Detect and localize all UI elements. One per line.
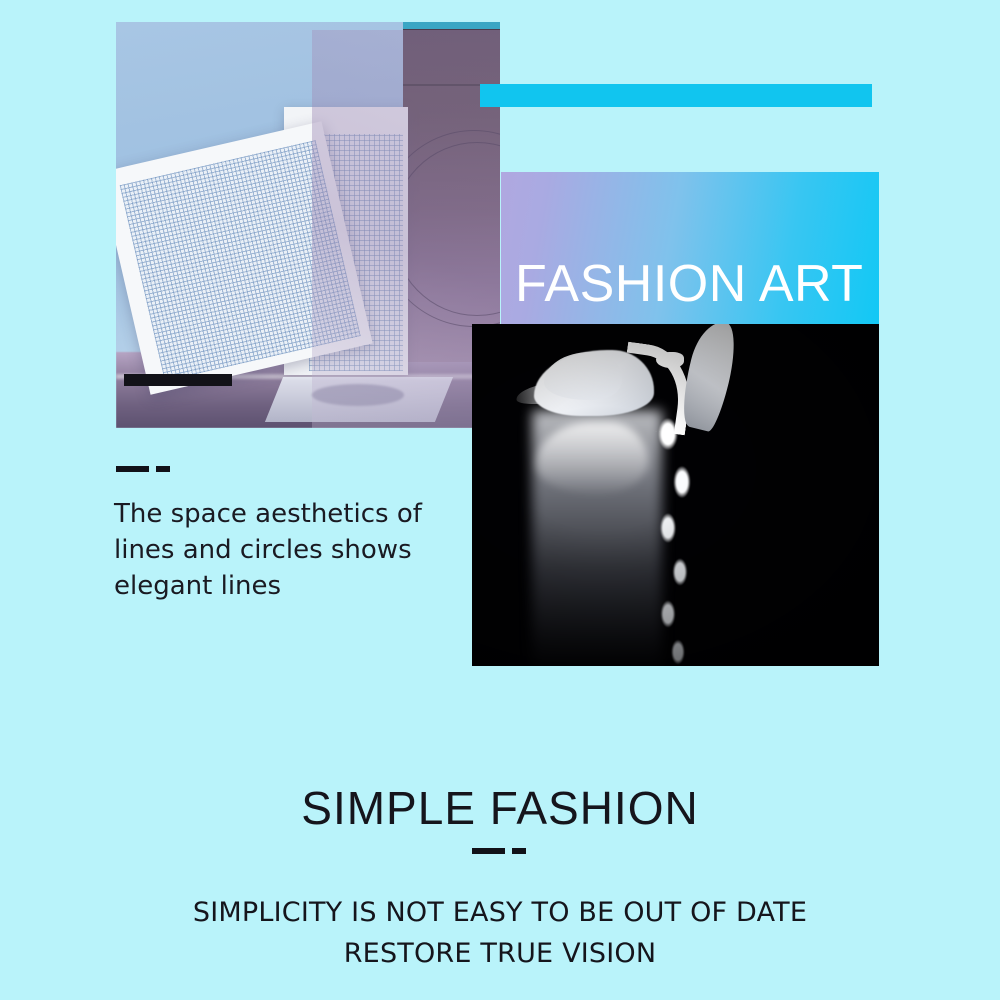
dash-long-icon <box>472 848 505 854</box>
bottom-subtitle-line-1: SIMPLICITY IS NOT EASY TO BE OUT OF DATE <box>0 892 1000 933</box>
swan-vignette <box>472 324 879 666</box>
mauve-panel-top-trim <box>403 22 500 29</box>
fashion-art-title: FASHION ART <box>515 258 863 310</box>
panel-foot-shadow <box>124 374 232 386</box>
bottom-heading: SIMPLE FASHION <box>0 782 1000 834</box>
fashion-art-title-panel: FASHION ART <box>501 172 879 324</box>
bottom-text-block: SIMPLE FASHION SIMPLICITY IS NOT EASY TO… <box>0 782 1000 974</box>
left-dash-divider <box>116 466 170 472</box>
cyan-accent-bar <box>480 84 872 107</box>
left-product-photo <box>116 22 500 428</box>
left-body-copy: The space aesthetics of lines and circle… <box>114 496 464 604</box>
swan-photo <box>472 324 879 666</box>
dash-long-icon <box>116 466 149 472</box>
dash-short-icon <box>156 466 170 472</box>
bottom-subtitle-line-2: RESTORE TRUE VISION <box>0 933 1000 974</box>
dash-short-icon <box>512 848 526 854</box>
poster-canvas: FASHION ART The space aesthetics of line… <box>0 0 1000 1000</box>
bottom-subtitle: SIMPLICITY IS NOT EASY TO BE OUT OF DATE… <box>0 892 1000 974</box>
bottom-dash-divider <box>472 848 526 854</box>
